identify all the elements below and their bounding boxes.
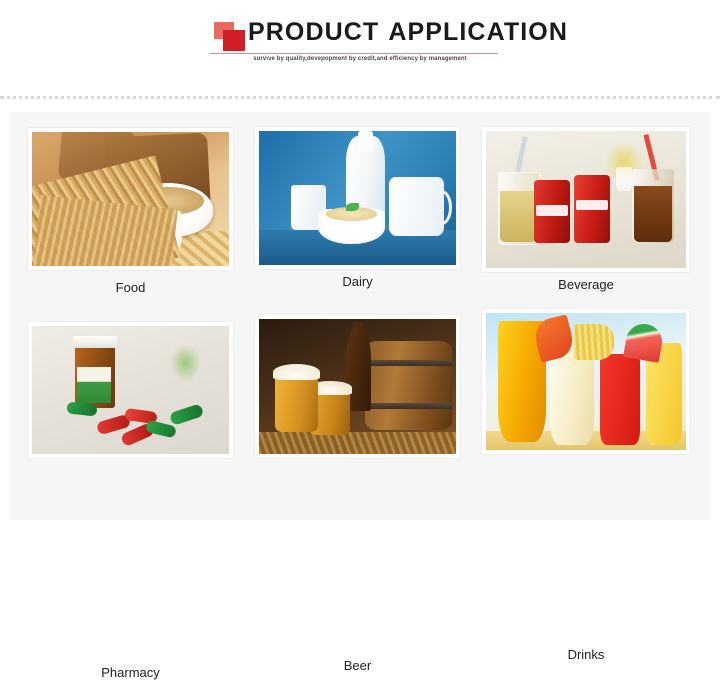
two-red-squares-logo-icon — [214, 22, 248, 52]
card-drinks[interactable]: Drinks — [482, 309, 690, 454]
brand-logo-block: PRODUCTAPPLICATION survive by quality,de… — [204, 18, 516, 74]
page-header: PRODUCTAPPLICATION survive by quality,de… — [0, 0, 720, 97]
product-application-grid: Food Dairy — [10, 112, 710, 520]
card-beer-label: Beer — [255, 658, 460, 673]
card-pharmacy-photo-frame[interactable] — [28, 322, 233, 458]
card-food-label: Food — [28, 280, 233, 295]
page-title-word-product: PRODUCT — [248, 18, 379, 46]
beer-mugs-barrel-photo — [259, 319, 456, 454]
page-title-word-application: APPLICATION — [388, 18, 568, 46]
card-pharmacy-label: Pharmacy — [28, 665, 233, 680]
card-beverage-photo-frame[interactable] — [482, 127, 690, 272]
page-subtitle: survive by quality,devepopment by credit… — [204, 56, 516, 62]
header-dotted-divider — [0, 96, 720, 99]
card-beer[interactable]: Beer — [255, 315, 460, 458]
cola-cans-glasses-photo — [486, 131, 686, 268]
title-underline-rule — [210, 53, 498, 54]
card-dairy-photo-frame[interactable] — [255, 127, 460, 269]
card-food-photo-frame[interactable] — [28, 128, 233, 270]
logo-square-front-icon — [223, 30, 245, 51]
fruit-juice-glasses-photo — [486, 313, 686, 450]
pill-bottle-capsules-photo — [32, 326, 229, 454]
card-pharmacy[interactable]: Pharmacy — [28, 322, 233, 458]
card-dairy[interactable]: Dairy — [255, 127, 460, 269]
card-beer-photo-frame[interactable] — [255, 315, 460, 458]
cereal-bowl-wheat-photo — [32, 132, 229, 266]
card-beverage[interactable]: Beverage — [482, 127, 690, 272]
card-food[interactable]: Food — [28, 128, 233, 270]
milk-bottle-jug-photo — [259, 131, 456, 265]
card-drinks-label: Drinks — [482, 647, 690, 662]
card-drinks-photo-frame[interactable] — [482, 309, 690, 454]
page-title: PRODUCTAPPLICATION — [248, 18, 568, 47]
content-panel: Food Dairy — [10, 112, 710, 520]
card-beverage-label: Beverage — [482, 277, 690, 292]
card-dairy-label: Dairy — [255, 274, 460, 289]
